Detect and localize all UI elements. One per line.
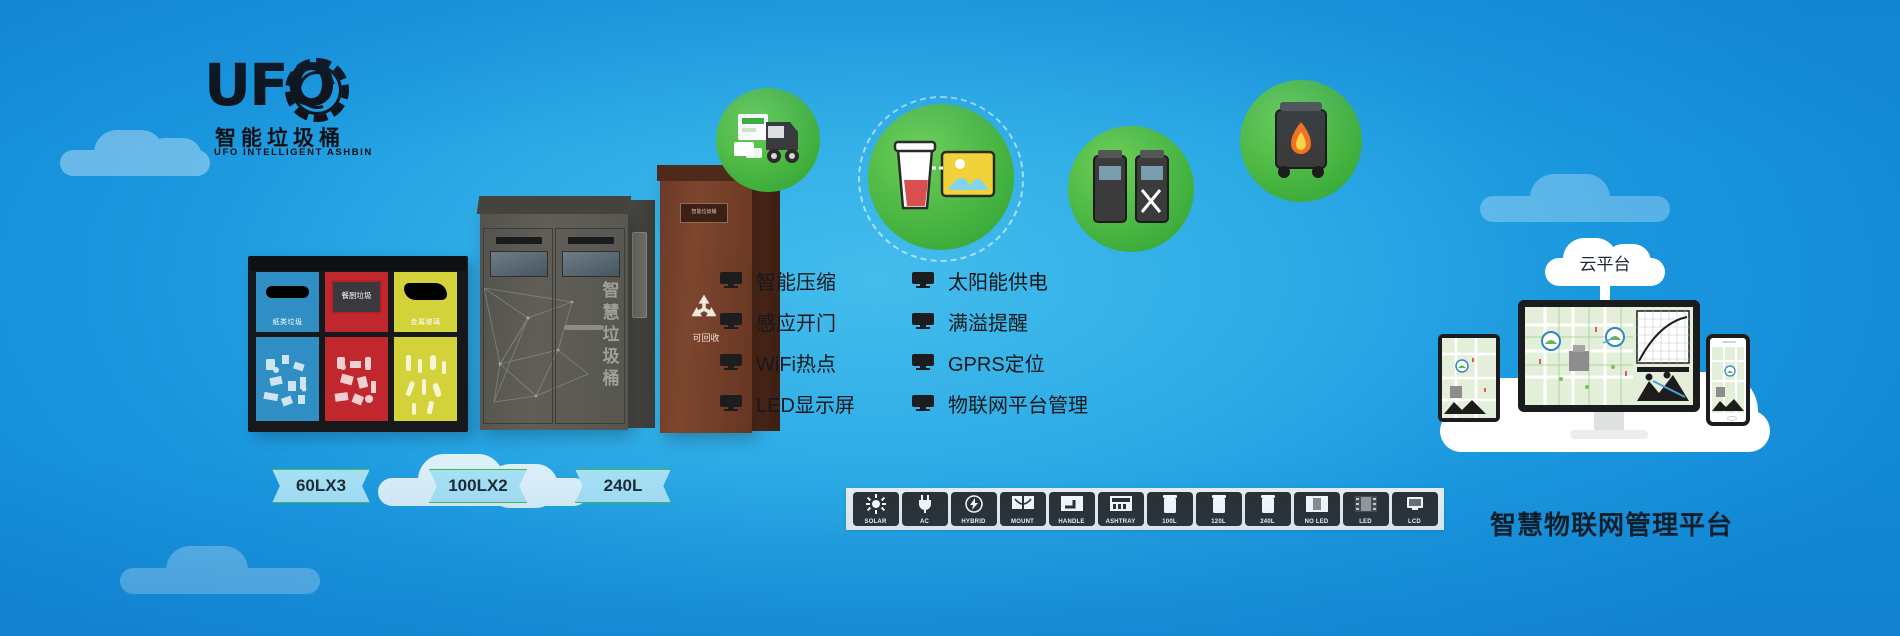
compartment-top: 金属玻璃 bbox=[394, 272, 457, 332]
device-tablet bbox=[1438, 334, 1500, 422]
spec-240l[interactable]: 240L bbox=[1245, 492, 1291, 526]
bin-compartment-paper: 纸类垃圾 bbox=[256, 272, 319, 421]
bin-fill-sensor-icon bbox=[868, 104, 1014, 250]
compartment-top: 纸类垃圾 bbox=[256, 272, 319, 332]
feature-column-right: 太阳能供电 满溢提醒 GPRS定位 物联网平台管理 bbox=[912, 265, 1142, 429]
compactor-truck-icon bbox=[716, 88, 820, 192]
spec-caption: AC bbox=[902, 519, 948, 525]
product-bin-3-compartment: 纸类垃圾 餐厨垃圾 bbox=[248, 256, 468, 432]
monitor-neck bbox=[1594, 412, 1624, 432]
waste-slot bbox=[266, 286, 309, 298]
feature-label: GPRS定位 bbox=[948, 348, 1045, 377]
compartment-label: 纸类垃圾 bbox=[256, 317, 319, 327]
spec-hybrid[interactable]: HYBRID bbox=[951, 492, 997, 526]
spec-100l[interactable]: 100L bbox=[1147, 492, 1193, 526]
spec-caption: SOLAR bbox=[853, 519, 899, 525]
spec-caption: HANDLE bbox=[1049, 519, 1095, 525]
feature-item: 太阳能供电 bbox=[912, 265, 1142, 295]
phone-home-button[interactable] bbox=[1727, 416, 1737, 421]
feature-column-left: 智能压缩 感应开门 WiFi热点 LED显示屏 bbox=[720, 265, 920, 429]
wall-mount-icon bbox=[1000, 494, 1046, 514]
bin-nameplate: 智能垃圾桶 bbox=[680, 203, 728, 223]
feature-label: WiFi热点 bbox=[756, 348, 836, 377]
lcd-icon bbox=[1392, 494, 1438, 514]
power-plug-icon bbox=[902, 494, 948, 514]
no-led-icon bbox=[1294, 494, 1340, 514]
monitor-bullet-icon bbox=[912, 272, 934, 288]
door-handle bbox=[564, 325, 604, 330]
monitor-bullet-icon bbox=[912, 395, 934, 411]
bin-side-window bbox=[632, 232, 647, 318]
spec-caption: ASHTRAY bbox=[1098, 519, 1144, 525]
phone-map-graphic bbox=[1712, 347, 1744, 413]
feature-item: 智能压缩 bbox=[720, 265, 920, 295]
feature-label: 物联网平台管理 bbox=[948, 389, 1088, 418]
spec-caption: 100L bbox=[1147, 519, 1193, 525]
led-icon bbox=[1343, 494, 1389, 514]
led-display bbox=[496, 237, 542, 244]
phone-screen bbox=[1712, 347, 1744, 413]
bin-120l-icon bbox=[1196, 494, 1242, 514]
monitor-bullet-icon bbox=[912, 313, 934, 329]
bin-240l-icon bbox=[1245, 494, 1291, 514]
spec-caption: LED bbox=[1343, 519, 1389, 525]
spec-led[interactable]: LED bbox=[1343, 492, 1389, 526]
spec-solar[interactable]: SOLAR bbox=[853, 492, 899, 526]
spec-icon-strip: SOLAR AC HYBRID MOUNT bbox=[846, 488, 1444, 530]
feature-label: 满溢提醒 bbox=[948, 307, 1028, 336]
spec-120l[interactable]: 120L bbox=[1196, 492, 1242, 526]
hybrid-power-icon bbox=[951, 494, 997, 514]
bin-door-left bbox=[483, 228, 553, 424]
compartment-panel bbox=[325, 337, 388, 421]
compartment-panel bbox=[256, 337, 319, 421]
monitor-bullet-icon bbox=[720, 354, 742, 370]
feature-label: 感应开门 bbox=[756, 307, 836, 336]
led-display bbox=[568, 237, 614, 244]
promo-banner: UFO 智能垃圾桶 UFO INTELLIGENT ASHBIN 纸类垃圾 bbox=[0, 0, 1900, 636]
tablet-screen bbox=[1442, 338, 1496, 418]
feature-label: 太阳能供电 bbox=[948, 266, 1048, 295]
monitor-screen bbox=[1525, 307, 1693, 405]
spec-ac[interactable]: AC bbox=[902, 492, 948, 526]
cloud-decoration-right bbox=[1480, 170, 1700, 230]
product-bin-smart-gray: 智慧垃圾桶 bbox=[480, 196, 655, 436]
monitor-bullet-icon bbox=[720, 395, 742, 411]
bin-side-text: 智慧垃圾桶 bbox=[600, 280, 622, 390]
device-desktop-monitor bbox=[1518, 300, 1700, 440]
compartment-top: 餐厨垃圾 bbox=[325, 272, 388, 332]
paper-waste-graphic bbox=[256, 337, 319, 432]
feature-item: 满溢提醒 bbox=[912, 306, 1142, 336]
monitor-bezel bbox=[1518, 300, 1700, 412]
bin-top-cover bbox=[477, 196, 632, 214]
feature-circle-compaction bbox=[716, 88, 820, 192]
deposit-window bbox=[490, 251, 548, 277]
spec-caption: MOUNT bbox=[1000, 519, 1046, 525]
bin-side-panel bbox=[626, 200, 655, 428]
nameplate-text: 智能垃圾桶 bbox=[681, 204, 727, 215]
spec-no-led[interactable]: NO LED bbox=[1294, 492, 1340, 526]
bin-lid bbox=[250, 256, 466, 271]
logo-en-tagline: UFO INTELLIGENT ASHBIN bbox=[214, 147, 373, 158]
feature-item: 物联网平台管理 bbox=[912, 388, 1142, 418]
capacity-ribbon-100lx2: 100LX2 bbox=[429, 469, 527, 503]
monitor-bullet-icon bbox=[720, 313, 742, 329]
spec-caption: HYBRID bbox=[951, 519, 997, 525]
cloud-decoration-bottom-left bbox=[120, 540, 350, 600]
feature-circle-twin-bins bbox=[1068, 126, 1194, 252]
waste-slot bbox=[404, 283, 447, 300]
device-smartphone bbox=[1706, 334, 1750, 426]
fire-detect-icon bbox=[1240, 80, 1362, 202]
cloud-platform-bubble: 云平台 bbox=[1545, 236, 1665, 288]
feature-circle-fill-sensor bbox=[868, 104, 1014, 250]
brand-logo: UFO 智能垃圾桶 UFO INTELLIGENT ASHBIN bbox=[204, 56, 394, 161]
feature-circle-fire-alarm bbox=[1240, 80, 1362, 202]
spec-handle[interactable]: HANDLE bbox=[1049, 492, 1095, 526]
metal-glass-waste-graphic bbox=[394, 337, 457, 432]
cloud-platform-label: 云平台 bbox=[1545, 250, 1665, 275]
handle-icon bbox=[1049, 494, 1095, 514]
tablet-map-graphic bbox=[1442, 338, 1496, 418]
bin-100l-icon bbox=[1147, 494, 1193, 514]
platform-title: 智慧物联网管理平台 bbox=[1490, 505, 1810, 542]
feature-item: WiFi热点 bbox=[720, 347, 920, 377]
feature-item: GPRS定位 bbox=[912, 347, 1142, 377]
ashtray-icon bbox=[1098, 494, 1144, 514]
feature-item: LED显示屏 bbox=[720, 388, 920, 418]
spec-caption: 240L bbox=[1245, 519, 1291, 525]
kitchen-waste-graphic bbox=[325, 337, 388, 432]
recycle-icon bbox=[686, 291, 722, 327]
twin-bin-icon bbox=[1068, 126, 1194, 252]
feature-item: 感应开门 bbox=[720, 306, 920, 336]
compartment-label: 餐厨垃圾 bbox=[325, 290, 388, 301]
monitor-foot bbox=[1570, 430, 1648, 439]
sun-icon bbox=[853, 494, 899, 514]
capacity-ribbon-240l: 240L bbox=[575, 469, 671, 503]
spec-caption: 120L bbox=[1196, 519, 1242, 525]
dashboard-map-graphic bbox=[1525, 307, 1693, 405]
spec-mount[interactable]: MOUNT bbox=[1000, 492, 1046, 526]
spec-caption: NO LED bbox=[1294, 519, 1340, 525]
spec-ashtray[interactable]: ASHTRAY bbox=[1098, 492, 1144, 526]
monitor-bullet-icon bbox=[720, 272, 742, 288]
spec-caption: LCD bbox=[1392, 519, 1438, 525]
bin-compartment-metal-glass: 金属玻璃 bbox=[394, 272, 457, 421]
monitor-bullet-icon bbox=[912, 354, 934, 370]
bin-body: 智慧垃圾桶 bbox=[480, 208, 628, 430]
compartment-label: 金属玻璃 bbox=[394, 317, 457, 327]
bin-compartment-kitchen: 餐厨垃圾 bbox=[325, 272, 388, 421]
compartment-panel bbox=[394, 337, 457, 421]
feature-label: LED显示屏 bbox=[756, 389, 855, 418]
deposit-window bbox=[562, 251, 620, 277]
spec-lcd[interactable]: LCD bbox=[1392, 492, 1438, 526]
phone-speaker bbox=[1722, 341, 1736, 343]
feature-label: 智能压缩 bbox=[756, 266, 836, 295]
capacity-ribbon-60lx3: 60LX3 bbox=[272, 469, 370, 503]
